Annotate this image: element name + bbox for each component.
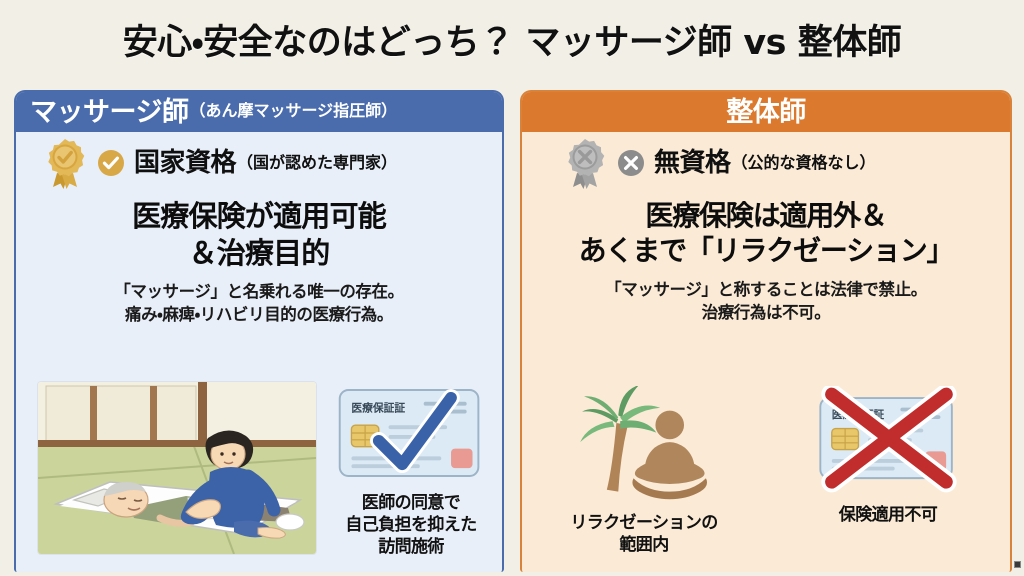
left-header-title: マッサージ師 <box>30 99 188 126</box>
left-subline-line1: 「マッサージ」と名乗れる唯一の存在。 <box>22 280 496 303</box>
relaxation-caption-line2: 範囲内 <box>522 534 766 556</box>
right-headline-line1: 医療保険は適用外＆ <box>530 198 1002 233</box>
right-qualification-row: 無資格 （公的な資格なし） <box>522 132 1010 194</box>
gray-cross-badge-icon <box>617 149 645 177</box>
left-header-subtitle: （あん摩マッサージ指圧師） <box>189 103 397 121</box>
right-subline: 「マッサージ」と称することは法律で禁止。 治療行為は不可。 <box>522 278 1010 325</box>
right-header-title: 整体師 <box>726 99 806 126</box>
panel-massage-therapist: マッサージ師 （あん摩マッサージ指圧師） 国家資格 <box>14 90 504 572</box>
home-visit-massage-illustration <box>38 382 316 554</box>
right-bottom-area: リラクゼーションの 範囲内 医療保証証 <box>522 384 1010 572</box>
left-headline: 医療保険が適用可能 ＆治療目的 <box>16 198 502 271</box>
right-item-relaxation: リラクゼーションの 範囲内 <box>522 384 766 572</box>
gold-check-badge-icon <box>97 149 125 177</box>
palm-tree-meditation-icon <box>563 487 725 506</box>
left-headline-line1: 医療保険が適用可能 <box>24 198 494 235</box>
corner-watermark <box>1014 561 1021 568</box>
left-card-column: 医療保証証 医師の同意で <box>322 382 500 558</box>
left-card-caption: 医師の同意で 自己負担を抑えた 訪問施術 <box>322 492 500 558</box>
left-qualification-label: 国家資格 <box>134 150 236 176</box>
left-card-caption-line3: 訪問施術 <box>322 536 500 558</box>
left-panel-header: マッサージ師 （あん摩マッサージ指圧師） <box>16 92 502 132</box>
slide-title-bar: 安心・安全なのはどっち？ マッサージ師 vs 整体師 <box>0 0 1024 86</box>
left-qualification-row: 国家資格 （国が認めた専門家） <box>16 132 502 194</box>
gold-rosette-check-icon <box>42 137 88 189</box>
panel-seitai-practitioner: 整体師 無資格 （公的な資格なし） <box>520 90 1012 572</box>
left-subline: 「マッサージ」と名乗れる唯一の存在。 痛み・麻痺・リハビリ目的の医療行為。 <box>16 280 502 327</box>
right-item-no-insurance-caption: 保険適用不可 <box>766 504 1010 526</box>
right-headline-line2: あくまで「リラクゼーション」 <box>530 233 1002 268</box>
right-subline-line1: 「マッサージ」と称することは法律で禁止。 <box>528 278 1004 301</box>
no-insurance-caption-line1: 保険適用不可 <box>766 504 1010 526</box>
left-subline-line2: 痛み・麻痺・リハビリ目的の医療行為。 <box>22 303 496 326</box>
right-qualification-label: 無資格 <box>654 150 731 176</box>
right-subline-line2: 治療行為は不可。 <box>528 301 1004 324</box>
slide-root: 安心・安全なのはどっち？ マッサージ師 vs 整体師 マッサージ師 （あん摩マッ… <box>0 0 1024 576</box>
left-card-caption-line1: 医師の同意で <box>322 492 500 514</box>
left-qualification-note: （国が認めた専門家） <box>237 155 397 172</box>
insurance-card-label-left: 医療保証証 <box>351 402 405 415</box>
right-item-no-insurance: 医療保証証 保険適用不可 <box>766 384 1010 572</box>
gray-rosette-cross-icon <box>562 137 608 189</box>
insurance-card-crossed-icon: 医療保証証 <box>807 479 969 498</box>
insurance-card-check-icon: 医療保証証 <box>328 469 494 488</box>
left-bottom-area: 医療保証証 医師の同意で <box>16 380 502 572</box>
page-title: 安心・安全なのはどっち？ マッサージ師 vs 整体師 <box>123 26 901 61</box>
relaxation-caption-line1: リラクゼーションの <box>522 512 766 534</box>
right-item-relaxation-caption: リラクゼーションの 範囲内 <box>522 512 766 556</box>
right-headline: 医療保険は適用外＆ あくまで「リラクゼーション」 <box>522 198 1010 269</box>
left-headline-line2: ＆治療目的 <box>24 235 494 272</box>
right-panel-header: 整体師 <box>522 92 1010 132</box>
left-card-caption-line2: 自己負担を抑えた <box>322 514 500 536</box>
right-qualification-note: （公的な資格なし） <box>732 155 876 172</box>
